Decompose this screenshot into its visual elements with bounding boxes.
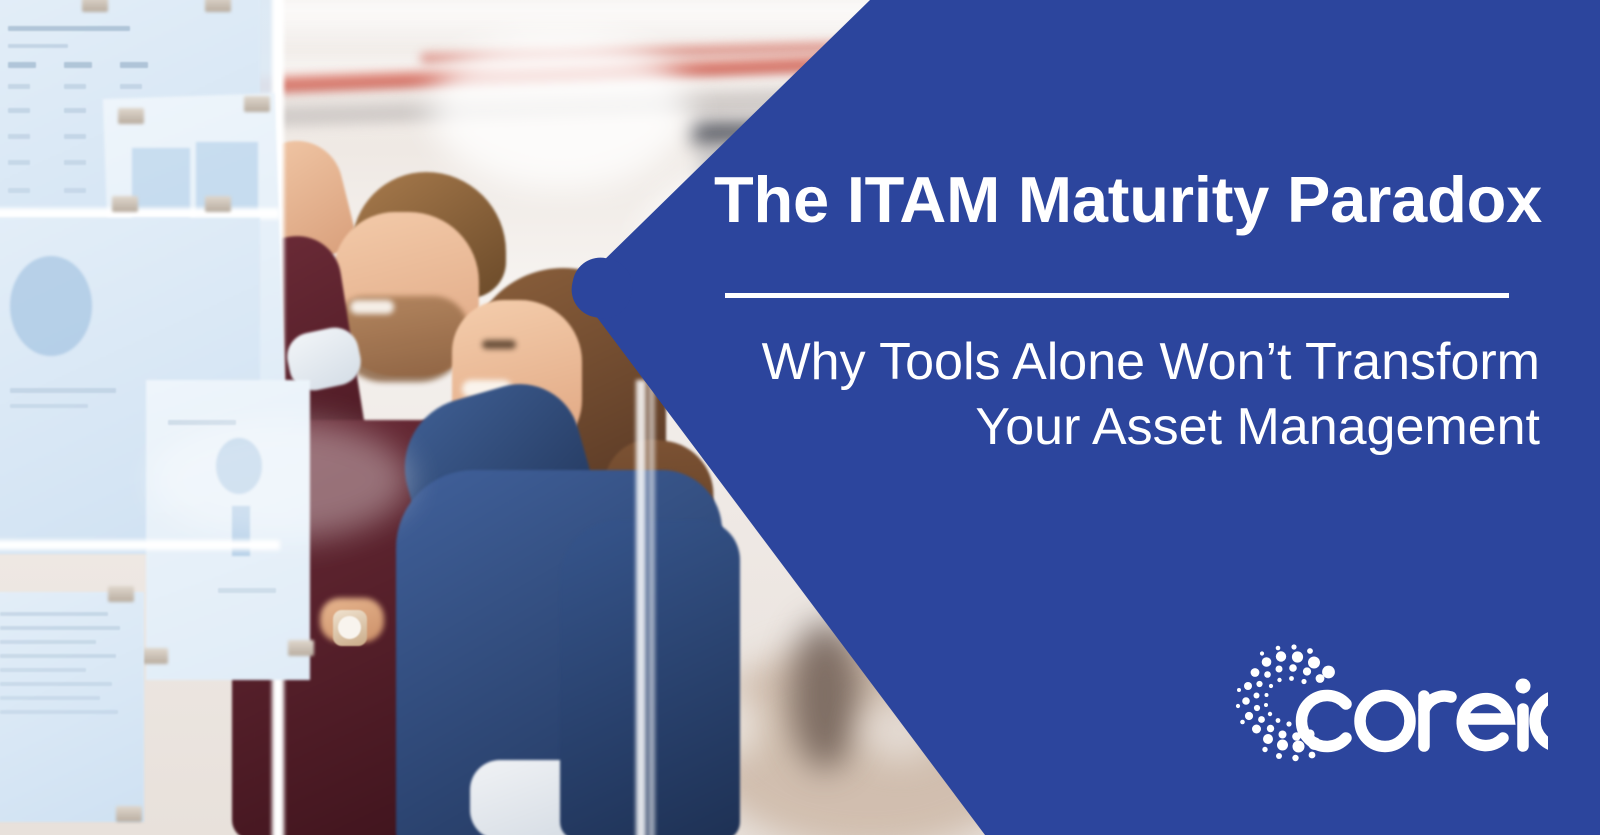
binder-clip (116, 806, 142, 822)
sheet-text-line (0, 710, 118, 714)
sheet-text-line (0, 640, 96, 644)
table-cell (8, 160, 30, 165)
person-woman-eye (482, 340, 516, 349)
hero-banner: The ITAM Maturity Paradox Why Tools Alon… (0, 0, 1600, 835)
binder-clip (118, 108, 144, 124)
table-cell (64, 188, 86, 193)
subtitle-line-2: Your Asset Management (700, 395, 1540, 460)
sheet-title-line (8, 26, 130, 31)
table-cell (64, 84, 86, 89)
sheet-text-line (0, 682, 112, 686)
title-divider (725, 293, 1509, 298)
sheet-text-line (168, 420, 236, 425)
binder-clip (82, 0, 108, 12)
sheet-text-line (10, 388, 116, 393)
binder-clip (288, 640, 314, 656)
sheet-text-line (0, 696, 100, 700)
sheet-text-line (8, 44, 68, 48)
table-cell (8, 108, 30, 113)
sheet-text-line (218, 588, 276, 593)
page-title: The ITAM Maturity Paradox (714, 166, 1544, 234)
sheet-text-line (10, 404, 88, 408)
binder-clip (205, 0, 231, 12)
glass-seam (0, 540, 280, 550)
table-header (120, 62, 148, 68)
wristwatch-face (338, 616, 361, 639)
bokeh-highlight (430, 30, 690, 190)
binder-clip (112, 196, 138, 212)
glass-edge-highlight (636, 380, 646, 835)
table-cell (120, 84, 142, 89)
table-cell (8, 188, 30, 193)
table-header (8, 62, 36, 68)
table-cell (64, 160, 86, 165)
binder-clip (142, 648, 168, 664)
table-cell (64, 108, 86, 113)
glass-glare (150, 420, 410, 540)
table-cell (8, 84, 30, 89)
pie-chart (10, 256, 92, 356)
sheet-text-line (0, 654, 116, 658)
sheet-text-line (0, 668, 86, 672)
table-cell (64, 134, 86, 139)
table-cell (8, 134, 30, 139)
sheet-text-line (0, 626, 120, 630)
binder-clip (205, 196, 231, 212)
subtitle-line-1: Why Tools Alone Won’t Transform (700, 330, 1540, 395)
table-header (64, 62, 92, 68)
page-subtitle: Why Tools Alone Won’t Transform Your Ass… (700, 330, 1540, 460)
logo-wordmark (1288, 662, 1548, 756)
binder-clip (108, 586, 134, 602)
binder-clip (244, 96, 270, 112)
sheet-text-line (0, 612, 108, 616)
coreio-logo (1232, 632, 1542, 780)
person-man-smile (350, 300, 394, 314)
